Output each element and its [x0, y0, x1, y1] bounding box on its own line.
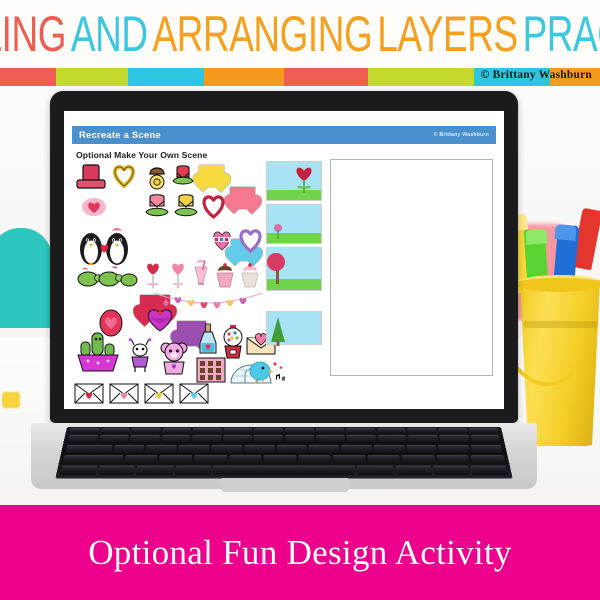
- keyboard-key[interactable]: [438, 445, 470, 454]
- keyboard-key[interactable]: [374, 445, 405, 454]
- title-word-and: AND: [68, 5, 150, 63]
- clipart-brown-flower[interactable]: [145, 162, 169, 192]
- keyboard-key[interactable]: [263, 455, 296, 464]
- segment-orange-1: [204, 68, 284, 86]
- keyboard-key[interactable]: [67, 435, 98, 444]
- laptop: Recreate a Scene © Brittany Washburn Opt…: [43, 86, 525, 505]
- clipart-pink-heart-oval[interactable]: [81, 197, 107, 217]
- clipart-pink-bear[interactable]: [158, 341, 190, 375]
- keyboard-key[interactable]: [432, 466, 469, 476]
- title-word-practice: PRACTICE: [520, 5, 600, 63]
- keyboard-key[interactable]: [346, 428, 375, 434]
- keyboard-key[interactable]: [471, 445, 503, 454]
- clipart-envelope-red[interactable]: [74, 383, 104, 404]
- clipart-pink-heart[interactable]: [230, 187, 255, 209]
- keyboard-key[interactable]: [65, 445, 113, 454]
- clipart-cupcake-pink[interactable]: [239, 261, 261, 289]
- keyboard-key[interactable]: [211, 445, 242, 454]
- keyboard-key[interactable]: [470, 435, 501, 444]
- segment-red-1: [0, 68, 56, 86]
- keyboard-key[interactable]: [347, 435, 377, 444]
- keyboard-key[interactable]: [276, 445, 307, 454]
- scene-thumb-pine-tree[interactable]: [266, 311, 322, 345]
- marker-green-cap-icon: [526, 228, 548, 244]
- laptop-photo-scene: Recreate a Scene © Brittany Washburn Opt…: [0, 86, 600, 505]
- keyboard-key[interactable]: [244, 445, 275, 454]
- keyboard-key[interactable]: [309, 445, 340, 454]
- keyboard-key[interactable]: [436, 455, 470, 464]
- keyboard-key[interactable]: [254, 435, 283, 444]
- clipart-candy-heart[interactable]: [210, 229, 234, 252]
- segment-lime-2: [368, 68, 474, 86]
- keyboard-key[interactable]: [193, 428, 222, 434]
- keyboard-key[interactable]: [60, 466, 98, 476]
- slide-content: Recreate a Scene © Brittany Washburn Opt…: [64, 111, 504, 409]
- keyboard-key[interactable]: [406, 445, 438, 454]
- laptop-trackpad[interactable]: [221, 478, 349, 492]
- keyboard-key[interactable]: [438, 428, 468, 434]
- clipart-violet-heart-ring[interactable]: [237, 228, 264, 253]
- keyboard-key[interactable]: [174, 466, 211, 476]
- clipart-cupcake-choc[interactable]: [214, 261, 236, 289]
- keyboard-key[interactable]: [69, 428, 99, 434]
- poster-page: RESIZINGANDARRANGINGLAYERSPRACTICE © Bri…: [0, 0, 600, 600]
- keyboard-key[interactable]: [100, 428, 130, 434]
- scene-thumbnail-column: [266, 161, 324, 373]
- keyboard-key[interactable]: [469, 428, 499, 434]
- keyboard-key[interactable]: [228, 455, 261, 464]
- keyboard-key[interactable]: [378, 435, 408, 444]
- keyboard-key[interactable]: [471, 455, 506, 464]
- keyboard-key[interactable]: [212, 466, 356, 476]
- scene-heart-flower-icon: [293, 166, 315, 196]
- keyboard-key[interactable]: [470, 466, 508, 476]
- clipart-yellow-heart[interactable]: [199, 165, 224, 187]
- keyboard-key[interactable]: [341, 445, 372, 454]
- keyboard-key[interactable]: [439, 435, 470, 444]
- segment-cyan-1: [128, 68, 204, 86]
- keyboard-key[interactable]: [129, 435, 159, 444]
- keyboard-key[interactable]: [113, 445, 145, 454]
- clipart-turtles[interactable]: [76, 265, 138, 289]
- prop-yellow-block: [2, 392, 20, 408]
- scene-pine-tree-icon: [269, 316, 287, 346]
- clipart-pink-tulip[interactable]: [144, 193, 170, 223]
- keyboard-key[interactable]: [124, 455, 158, 464]
- segment-red-2: [284, 68, 368, 86]
- clipart-milkshake[interactable]: [191, 259, 211, 291]
- clipart-love-bug[interactable]: [126, 337, 154, 373]
- scene-thumb-heart-flower[interactable]: [266, 161, 322, 201]
- clipart-gold-heart-frame[interactable]: [111, 164, 137, 188]
- slide-header-bar: Recreate a Scene © Brittany Washburn: [72, 126, 496, 144]
- page-title: RESIZINGANDARRANGINGLAYERSPRACTICE: [0, 5, 600, 63]
- clipart-gumball-machine[interactable]: [222, 325, 244, 359]
- keyboard-key[interactable]: [98, 435, 129, 444]
- keyboard-key[interactable]: [178, 445, 209, 454]
- keyboard-key[interactable]: [136, 466, 173, 476]
- clipart-penguin-pair[interactable]: [76, 225, 134, 267]
- keyboard-key[interactable]: [402, 455, 436, 464]
- keyboard-key[interactable]: [161, 435, 191, 444]
- scene-small-flower-icon: [271, 223, 285, 241]
- keyboard-key[interactable]: [254, 428, 283, 434]
- title-word-layers: LAYERS: [374, 5, 519, 63]
- clipart-envelope-yellow[interactable]: [144, 383, 174, 404]
- header-title-area: RESIZINGANDARRANGINGLAYERSPRACTICE: [0, 0, 600, 68]
- scene-canvas[interactable]: [330, 159, 493, 376]
- clipart-love-potion[interactable]: [198, 323, 218, 357]
- marker-blue-cap-icon: [554, 224, 576, 241]
- keyboard-key[interactable]: [407, 428, 437, 434]
- keyboard-key[interactable]: [223, 435, 252, 444]
- keyboard-key[interactable]: [131, 428, 161, 434]
- clipart-heart-lollipop-red[interactable]: [144, 261, 162, 291]
- clipart-heart-lollipop-pink[interactable]: [169, 261, 187, 291]
- keyboard-key[interactable]: [223, 428, 252, 434]
- keyboard-key[interactable]: [194, 455, 227, 464]
- title-word-arranging: ARRANGING: [150, 5, 375, 63]
- laptop-lid: Recreate a Scene © Brittany Washburn Opt…: [50, 91, 518, 423]
- keyboard-key[interactable]: [63, 455, 124, 464]
- keyboard-key[interactable]: [285, 435, 314, 444]
- laptop-screen: Recreate a Scene © Brittany Washburn Opt…: [64, 111, 504, 409]
- clipart-envelope-blue[interactable]: [179, 383, 209, 404]
- keyboard-key[interactable]: [367, 455, 401, 464]
- clipart-palette: [74, 161, 264, 371]
- keyboard-key[interactable]: [316, 428, 345, 434]
- copyright-header: © Brittany Washburn: [481, 69, 592, 81]
- keyboard-key[interactable]: [316, 435, 345, 444]
- keyboard-key[interactable]: [395, 466, 432, 476]
- clipart-envelope-pink[interactable]: [109, 383, 139, 404]
- slide-copyright: © Brittany Washburn: [434, 132, 489, 138]
- keyboard-key[interactable]: [98, 466, 135, 476]
- segment-lime-1: [56, 68, 128, 86]
- scene-thumb-empty-sky[interactable]: [266, 204, 322, 244]
- clipart-yellow-tulip[interactable]: [173, 193, 199, 223]
- keyboard-key[interactable]: [333, 455, 366, 464]
- clipart-red-rose[interactable]: [171, 164, 195, 189]
- title-word-resizing: RESIZING: [0, 5, 68, 63]
- keyboard-key[interactable]: [357, 466, 394, 476]
- banner-text: Optional Fun Design Activity: [88, 533, 512, 573]
- keyboard-key[interactable]: [408, 435, 438, 444]
- keyboard-key[interactable]: [162, 428, 191, 434]
- clipart-red-hat[interactable]: [76, 163, 106, 191]
- slide-title: Recreate a Scene: [79, 130, 161, 141]
- keyboard-key[interactable]: [285, 428, 314, 434]
- keyboard-key[interactable]: [159, 455, 193, 464]
- clipart-cactus-pot[interactable]: [76, 329, 120, 373]
- scene-rose-tree-icon: [267, 252, 289, 286]
- clipart-heart-chocolate-box[interactable]: [144, 307, 176, 333]
- laptop-keyboard[interactable]: [55, 427, 512, 478]
- keyboard-key[interactable]: [298, 455, 331, 464]
- clipart-heart-outline[interactable]: [200, 194, 227, 219]
- keyboard-key[interactable]: [146, 445, 178, 454]
- bottom-banner: Optional Fun Design Activity: [0, 505, 600, 600]
- scene-thumb-rose-tree[interactable]: [266, 247, 322, 291]
- slide-subtitle: Optional Make Your Own Scene: [76, 150, 207, 160]
- keyboard-key[interactable]: [377, 428, 406, 434]
- clipart-chocolate-tray[interactable]: [196, 357, 226, 383]
- keyboard-key[interactable]: [192, 435, 222, 444]
